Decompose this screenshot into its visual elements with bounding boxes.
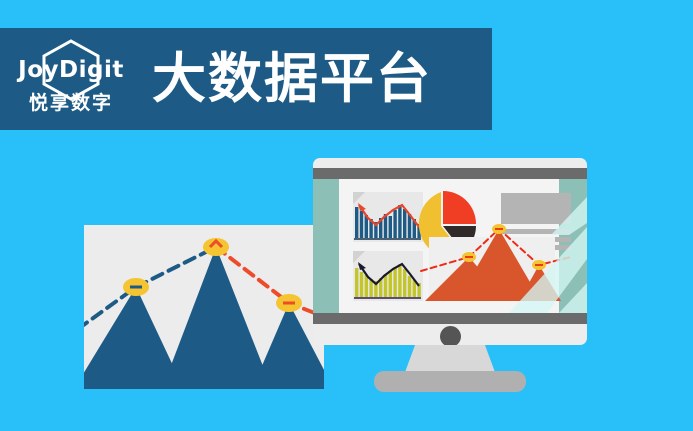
monitor-display xyxy=(313,158,587,345)
monitor-screen xyxy=(313,179,587,313)
left-area-chart xyxy=(84,225,324,389)
screen-stripe-left xyxy=(313,179,339,313)
brand-logo: JoyDigit 悦享数字 xyxy=(12,33,130,125)
placeholder-block-large xyxy=(501,193,571,224)
widget-bar-chart-blue[interactable] xyxy=(353,192,423,242)
monitor-stand-base xyxy=(374,371,526,392)
header-banner: JoyDigit 悦享数字 大数据平台 xyxy=(0,28,492,130)
power-indicator-dot[interactable] xyxy=(440,326,461,347)
monitor-bezel-bottom xyxy=(313,313,587,324)
dashboard-graphic xyxy=(313,179,587,313)
monitor-bezel-top xyxy=(313,168,587,179)
mountain-shape-center xyxy=(162,247,272,389)
logo-wordmark: JoyDigit xyxy=(18,59,124,82)
poster-canvas: JoyDigit 悦享数字 大数据平台 xyxy=(0,0,693,431)
logo-subtitle: 悦享数字 xyxy=(29,94,113,113)
page-title: 大数据平台 xyxy=(152,52,432,106)
left-mountain-chart-panel xyxy=(84,225,324,389)
widget-bar-chart-olive[interactable] xyxy=(353,251,423,301)
